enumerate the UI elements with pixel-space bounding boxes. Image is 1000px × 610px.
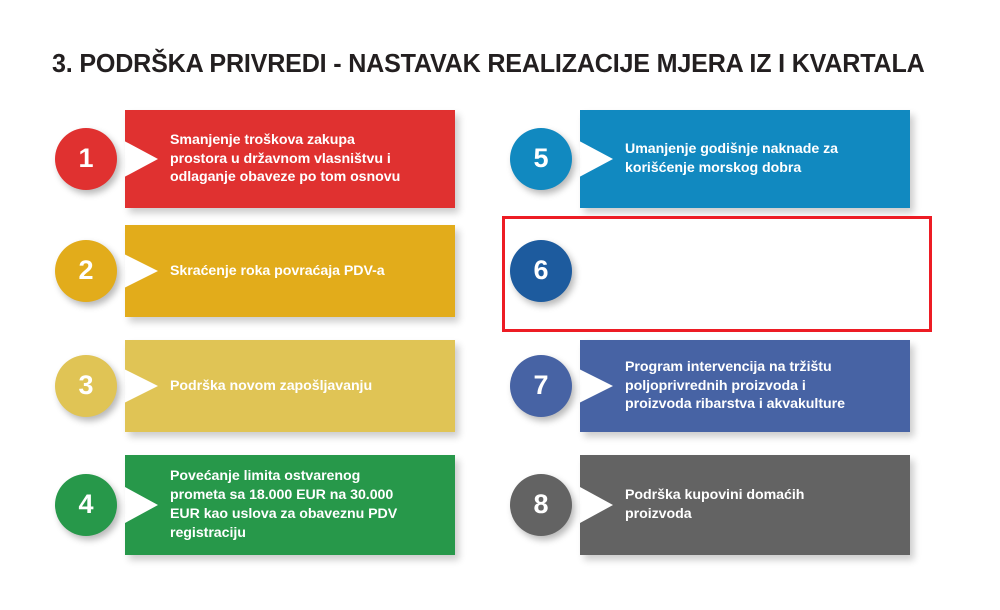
measure-number-badge: 5: [510, 128, 572, 190]
measure-text: Podrška novom zapošljavanju: [170, 340, 450, 432]
page-title: 3. PODRŠKA PRIVREDI - NASTAVAK REALIZACI…: [52, 50, 939, 79]
measure-number-badge: 7: [510, 355, 572, 417]
measure-item-8: Podrška kupovini domaćih proizvoda8: [510, 455, 940, 555]
measure-number-badge: 6: [510, 240, 572, 302]
measure-item-7: Program intervencija na tržištu poljopri…: [510, 340, 940, 432]
measure-text: Smanjenje troškova zakupa prostora u drž…: [170, 110, 450, 208]
measure-item-4: Povećanje limita ostvarenog prometa sa 1…: [55, 455, 485, 555]
measure-text: Povećanje limita ostvarenog prometa sa 1…: [170, 455, 450, 555]
measure-item-2: Skraćenje roka povraćaja PDV-a2: [55, 225, 485, 317]
measure-number-badge: 3: [55, 355, 117, 417]
measure-item-1: Smanjenje troškova zakupa prostora u drž…: [55, 110, 485, 208]
measure-text: Turistički vaučeri za prosvjetne i zdrav…: [625, 225, 905, 317]
measure-number-badge: 1: [55, 128, 117, 190]
measure-text: Skraćenje roka povraćaja PDV-a: [170, 225, 450, 317]
measure-text: Podrška kupovini domaćih proizvoda: [625, 455, 905, 555]
measure-number-badge: 8: [510, 474, 572, 536]
slide-canvas: 3. PODRŠKA PRIVREDI - NASTAVAK REALIZACI…: [0, 0, 1000, 610]
measure-number-badge: 4: [55, 474, 117, 536]
measure-text: Umanjenje godišnje naknade za korišćenje…: [625, 110, 905, 208]
measure-item-6: Turistički vaučeri za prosvjetne i zdrav…: [510, 225, 940, 317]
measure-text: Program intervencija na tržištu poljopri…: [625, 340, 905, 432]
measure-item-3: Podrška novom zapošljavanju3: [55, 340, 485, 432]
measure-number-badge: 2: [55, 240, 117, 302]
measure-item-5: Umanjenje godišnje naknade za korišćenje…: [510, 110, 940, 208]
